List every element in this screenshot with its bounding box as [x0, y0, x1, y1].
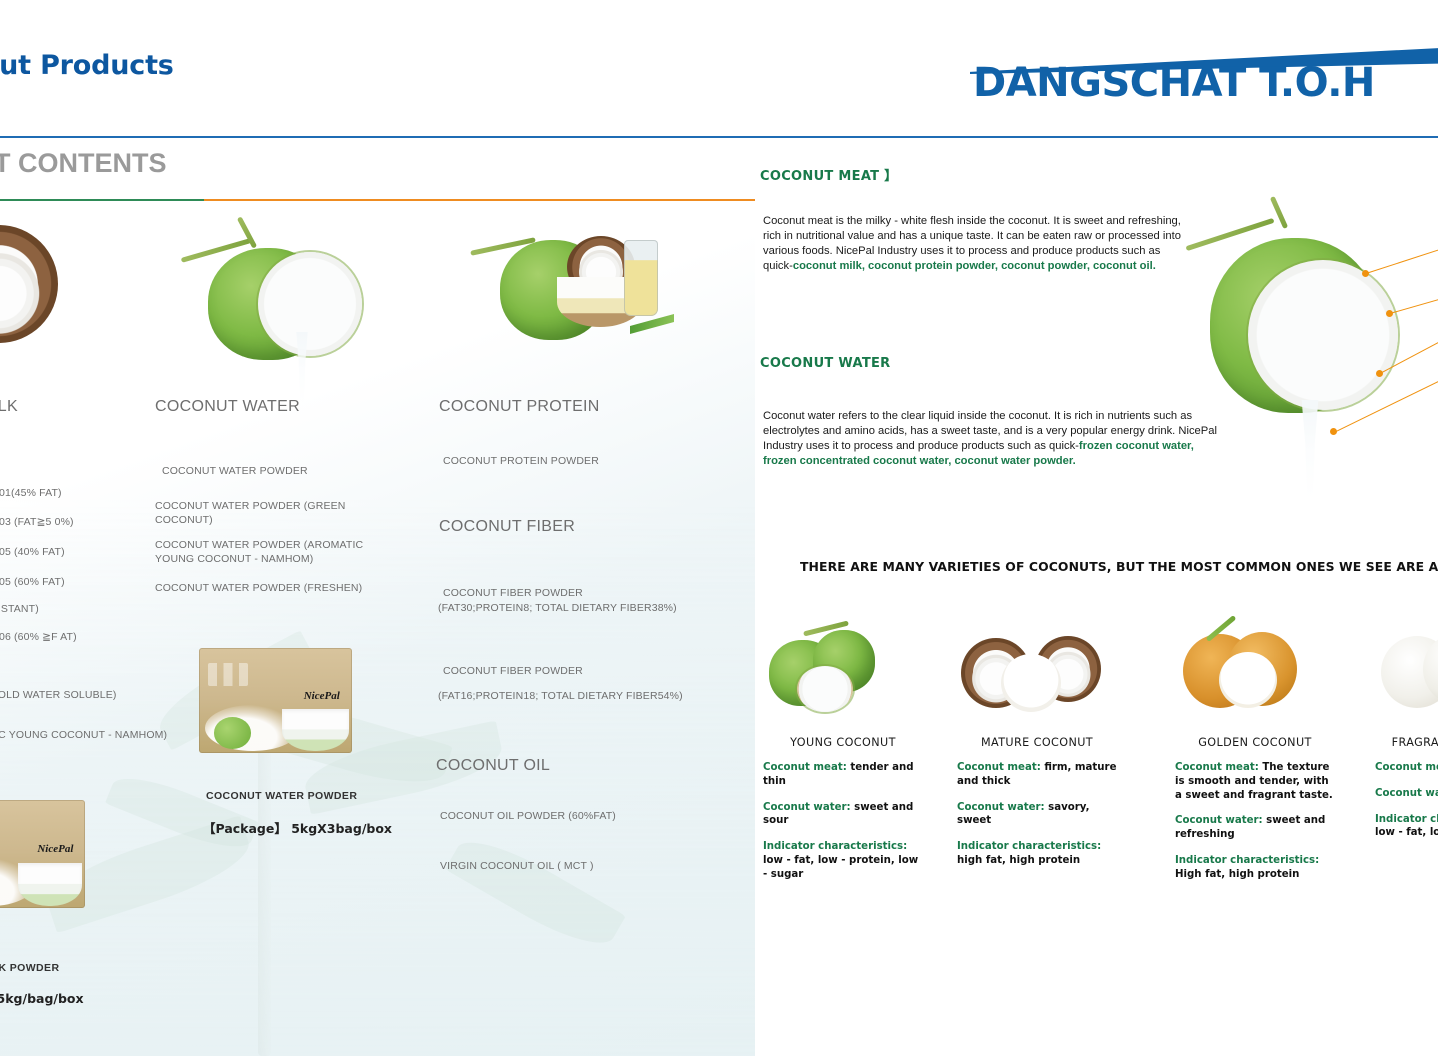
- coconut-stem: [1270, 196, 1288, 229]
- list-item: (FAT30;PROTEIN8; TOTAL DIETARY FIBER38%): [438, 601, 738, 615]
- variety-name: GOLDEN COCONUT: [1175, 736, 1335, 749]
- coconut-water-package-image: NicePal: [199, 648, 352, 753]
- col-heading-coconut-water: COCONUT WATER: [155, 398, 300, 416]
- variety-water-label: Coconut water:: [763, 802, 851, 813]
- coconut-protein-oil-image: [462, 222, 682, 352]
- variety-water-label: Coconut water:: [957, 802, 1045, 813]
- list-item: COCONUT WATER POWDER (FRESHEN): [155, 581, 415, 595]
- variety-indicator-value: high fat, high protein: [957, 855, 1080, 866]
- col-heading-coconut-oil: COCONUT OIL: [436, 757, 550, 775]
- list-item: COCONUT MILK POWDER (INSTANT): [0, 602, 180, 616]
- variety-card-golden-coconut: GOLDEN COCONUT Coconut meat: The texture…: [1175, 610, 1335, 881]
- variety-image: [957, 610, 1117, 730]
- variety-name: MATURE COCONUT: [957, 736, 1117, 749]
- variety-water: Coconut water: savory, sweet: [957, 801, 1117, 829]
- variety-meat-label: Coconut meat:: [957, 762, 1041, 773]
- package-spec: 【Package】25kg/bag/box: [0, 988, 84, 1007]
- section-body-coconut-meat: Coconut meat is the milky - white flesh …: [763, 214, 1193, 274]
- palm-leaf-accent: [630, 314, 674, 334]
- list-item: COCONUT MILK POWDER A103 (FAT≧5 0%): [0, 515, 180, 529]
- variety-indicator: Indicator characteristics:high fat, high…: [957, 840, 1117, 868]
- list-item: COCONUT WATER POWDER (AROMATIC YOUNG COC…: [155, 538, 385, 566]
- nicepal-brand-label: NicePal: [37, 843, 73, 855]
- variety-indicator-value: low - fat, low - protein, low - sugar: [763, 855, 918, 880]
- list-item: COCONUT FIBER POWDER: [443, 586, 733, 600]
- variety-name: FRAGRANT COCONUT: [1375, 736, 1438, 749]
- varieties-heading: THERE ARE MANY VARIETIES OF COCONUTS, BU…: [800, 559, 1438, 574]
- coconut-cut-face: [1219, 652, 1277, 708]
- variety-indicator-label: Indicator characteristics:: [1175, 855, 1319, 866]
- header-divider-blue: [0, 136, 755, 138]
- callout-line: [1390, 287, 1438, 315]
- variety-indicator: Indicator characteristics:High fat, high…: [1175, 854, 1335, 882]
- variety-name: YOUNG COCONUT: [763, 736, 923, 749]
- variety-meat: Coconut meat: firm, mature and thick: [957, 761, 1117, 789]
- powder-bowl: [282, 709, 349, 751]
- variety-water: Coconut water: and taro fr: [1375, 787, 1438, 801]
- col-heading-coconut-milk: COCONUT MILK: [0, 398, 18, 416]
- variety-indicator-value: low - fat, lo: [1375, 827, 1438, 838]
- left-panel: Coconut Products CONTENT CONTENTS: [0, 0, 755, 1056]
- variety-image: [1375, 610, 1438, 730]
- variety-water: Coconut water: sweet and refreshing: [1175, 814, 1335, 842]
- hero-coconut-image: Coconut water: [1190, 210, 1438, 510]
- col-heading-coconut-protein: COCONUT PROTEIN: [439, 398, 600, 416]
- brown-coconut-shape: [0, 225, 58, 343]
- list-item: COCONUT MILK POWDER A105 (60% FAT): [0, 575, 180, 589]
- powder-bowl: [18, 863, 82, 906]
- body-text-highlight: coconut milk, coconut protein powder, co…: [793, 260, 1156, 272]
- page-title: Coconut Products: [0, 50, 174, 81]
- list-item: COCONUT MILK POWDER A101(45% FAT): [0, 486, 180, 500]
- nicepal-brand-label: NicePal: [304, 690, 340, 702]
- variety-indicator-value: High fat, high protein: [1175, 869, 1299, 880]
- list-item: COCONUT MILK POWDER A105 (40% FAT): [0, 545, 180, 559]
- section-body-coconut-water: Coconut water refers to the clear liquid…: [763, 409, 1223, 469]
- coconut-cut-face: [1248, 260, 1398, 410]
- coconut-milk-image: [0, 225, 90, 395]
- coconut-cut-face: [258, 252, 362, 356]
- list-item: COCONUT WATER POWDER (GREEN COCONUT): [155, 499, 360, 527]
- variety-image: [763, 610, 923, 730]
- coconut-water-image: [178, 222, 378, 397]
- contents-heading: CONTENT CONTENTS: [0, 148, 167, 179]
- list-item: VIRGIN COCONUT OIL ( MCT ): [440, 859, 730, 873]
- list-item: COCONUT OIL POWDER (60%FAT): [440, 809, 730, 823]
- variety-water: Coconut water: sweet and sour: [763, 801, 923, 829]
- divider-orange-segment: [204, 199, 755, 201]
- divider-green-segment: [0, 199, 204, 201]
- variety-card-mature-coconut: MATURE COCONUT Coconut meat: firm, matur…: [957, 610, 1117, 868]
- variety-image: [1175, 610, 1335, 730]
- section-heading-coconut-water: COCONUT WATER: [760, 356, 890, 371]
- section-heading-coconut-meat: COCONUT MEAT 】: [760, 165, 897, 184]
- variety-meat-label: Coconut meat:: [1375, 762, 1438, 773]
- callout-line: [1366, 241, 1438, 275]
- variety-indicator: Indicator characteristics:low - fat, lo: [1375, 813, 1438, 841]
- package-caption: COCONUT MILK POWDER: [0, 962, 59, 974]
- list-item: COCONUT MILK POWDER A106 (60% ≧F AT): [0, 630, 180, 644]
- list-item: COCONUT FIBER POWDER: [443, 664, 733, 678]
- company-logo: DANGSCHAT T.O.H: [973, 60, 1375, 106]
- oil-bottle: [624, 240, 658, 316]
- water-drip: [1299, 400, 1321, 500]
- list-item: COCONUT CREAM POWDER: [0, 660, 180, 674]
- contents-divider: [0, 199, 755, 201]
- green-coconut-accent: [214, 717, 251, 749]
- variety-meat: Coconut meat: tender and thin: [763, 761, 923, 789]
- variety-meat: Coconut meat: coconut ar: [1375, 761, 1438, 775]
- variety-indicator-label: Indicator characteristics:: [957, 841, 1101, 852]
- package-spec: 【Package】 5kgX3bag/box: [203, 818, 392, 837]
- list-item: COCONUT MILK POWDER (COLD WATER SOLUBLE): [0, 688, 180, 702]
- coconut-cut-face: [1001, 654, 1061, 712]
- coconut-milk-package-image: NicePal: [0, 800, 85, 908]
- variety-indicator: Indicator characteristics:low - fat, low…: [763, 840, 923, 881]
- package-caption: COCONUT WATER POWDER: [206, 790, 357, 802]
- header-divider-blue: [755, 136, 1438, 138]
- variety-meat: Coconut meat: The texture is smooth and …: [1175, 761, 1335, 802]
- variety-water-label: Coconut water:: [1175, 815, 1263, 826]
- variety-meat-label: Coconut meat:: [763, 762, 847, 773]
- right-panel: DANGSCHAT T.O.H COCONUT MEAT 】 Coconut m…: [755, 0, 1438, 1056]
- list-item: COCONUT MILK POWDER: [0, 760, 180, 774]
- list-item: (FAT16;PROTEIN18; TOTAL DIETARY FIBER54%…: [438, 689, 738, 703]
- variety-indicator-label: Indicator characteristics:: [1375, 814, 1438, 825]
- col-heading-coconut-fiber: COCONUT FIBER: [439, 518, 575, 536]
- list-item: COCONUT PROTEIN POWDER: [443, 454, 723, 468]
- variety-water-label: Coconut water:: [1375, 788, 1438, 799]
- variety-card-fragrant-coconut: FRAGRANT COCONUT Coconut meat: coconut a…: [1375, 610, 1438, 840]
- presentation-page: Coconut Products CONTENT CONTENTS: [0, 0, 1438, 1056]
- list-item: COCONUT WATER POWDER: [162, 464, 412, 478]
- list-item: COCONUT MILK POWDER (AROMATIC YOUNG COCO…: [0, 728, 190, 742]
- variety-meat-label: Coconut meat:: [1175, 762, 1259, 773]
- coconut-cut-face: [797, 666, 853, 712]
- variety-indicator-label: Indicator characteristics:: [763, 841, 907, 852]
- variety-card-young-coconut: YOUNG COCONUT Coconut meat: tender and t…: [763, 610, 923, 881]
